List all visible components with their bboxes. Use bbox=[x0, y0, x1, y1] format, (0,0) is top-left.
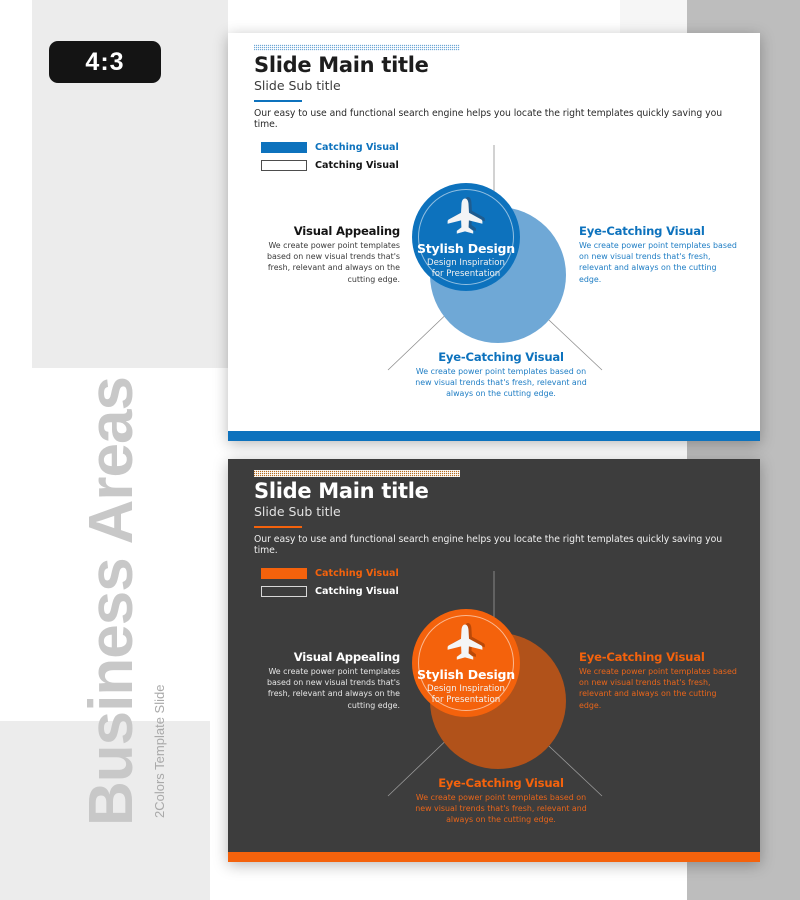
callout-heading: Visual Appealing bbox=[250, 224, 400, 238]
callout-heading: Eye-Catching Visual bbox=[409, 776, 593, 790]
sidebar-vertical-title: Business Areas bbox=[76, 377, 147, 826]
center-subtitle: Design Inspiration for Presentation bbox=[427, 258, 505, 279]
center-circle-light[interactable]: Stylish Design Design Inspiration for Pr… bbox=[412, 183, 520, 291]
center-subtitle: Design Inspiration for Presentation bbox=[427, 684, 505, 705]
callout-right: Eye-Catching Visual We create power poin… bbox=[579, 224, 737, 285]
airplane-icon bbox=[438, 197, 494, 239]
callout-body: We create power point templates based on… bbox=[250, 240, 400, 285]
callout-right: Eye-Catching Visual We create power poin… bbox=[579, 650, 737, 711]
center-subtitle-line2: for Presentation bbox=[432, 695, 501, 705]
callout-body: We create power point templates based on… bbox=[409, 792, 593, 826]
center-title: Stylish Design bbox=[417, 667, 515, 682]
callout-body: We create power point templates based on… bbox=[250, 666, 400, 711]
center-subtitle-line2: for Presentation bbox=[432, 269, 501, 279]
slide-footer-accent-bar bbox=[228, 431, 760, 441]
slide-dark[interactable]: Slide Main title Slide Sub title Our eas… bbox=[228, 459, 760, 862]
callout-body: We create power point templates based on… bbox=[579, 666, 737, 711]
callout-heading: Eye-Catching Visual bbox=[409, 350, 593, 364]
callout-bottom: Eye-Catching Visual We create power poin… bbox=[409, 350, 593, 400]
airplane-icon bbox=[438, 623, 494, 665]
slide-footer-accent-bar bbox=[228, 852, 760, 862]
callout-heading: Eye-Catching Visual bbox=[579, 650, 737, 664]
aspect-ratio-badge: 4:3 bbox=[49, 41, 161, 83]
callout-left: Visual Appealing We create power point t… bbox=[250, 224, 400, 285]
center-subtitle-line1: Design Inspiration bbox=[427, 684, 505, 694]
center-circle-dark[interactable]: Stylish Design Design Inspiration for Pr… bbox=[412, 609, 520, 717]
callout-body: We create power point templates based on… bbox=[579, 240, 737, 285]
callout-bottom: Eye-Catching Visual We create power poin… bbox=[409, 776, 593, 826]
sidebar-vertical-subtitle: 2Colors Template Slide bbox=[152, 685, 167, 818]
callout-body: We create power point templates based on… bbox=[409, 366, 593, 400]
callout-heading: Eye-Catching Visual bbox=[579, 224, 737, 238]
center-title: Stylish Design bbox=[417, 241, 515, 256]
callout-heading: Visual Appealing bbox=[250, 650, 400, 664]
aspect-ratio-label: 4:3 bbox=[85, 48, 124, 77]
callout-left: Visual Appealing We create power point t… bbox=[250, 650, 400, 711]
slide-light[interactable]: Slide Main title Slide Sub title Our eas… bbox=[228, 33, 760, 441]
center-subtitle-line1: Design Inspiration bbox=[427, 258, 505, 268]
